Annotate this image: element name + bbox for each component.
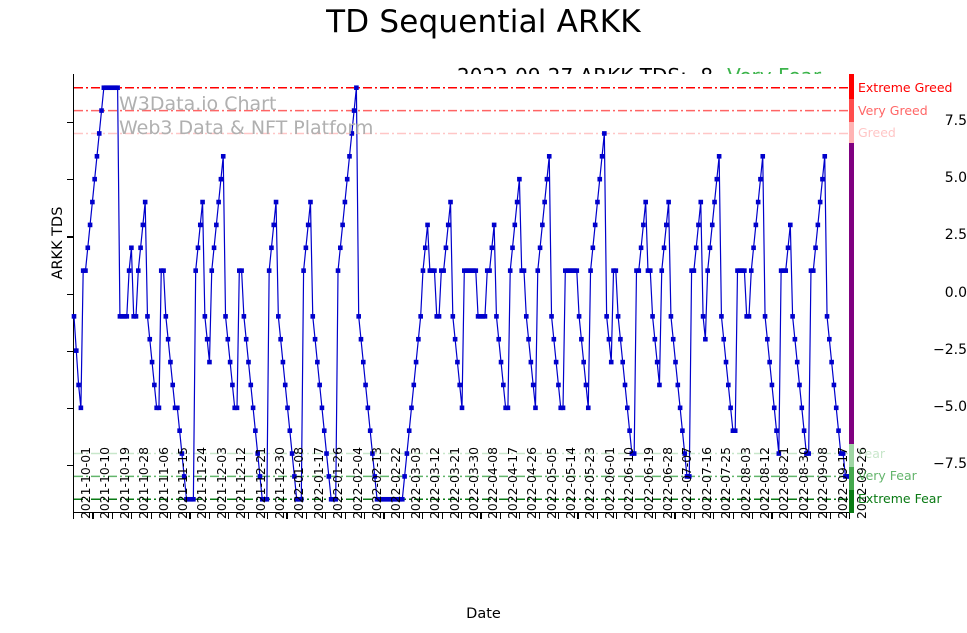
data-point-marker xyxy=(653,337,658,342)
x-axis-tick-label: 2021-12-03 xyxy=(214,447,229,519)
data-point-marker xyxy=(322,428,327,433)
data-point-marker xyxy=(320,406,325,411)
x-axis-tick-mark xyxy=(713,513,714,519)
x-axis-tick-mark xyxy=(752,513,753,519)
data-point-marker xyxy=(643,200,648,205)
data-point-marker xyxy=(832,383,837,388)
data-point-marker xyxy=(694,245,699,250)
data-point-marker xyxy=(540,223,545,228)
y-axis-tick-label: −5.0 xyxy=(911,399,967,415)
data-point-marker xyxy=(754,223,759,228)
data-point-marker xyxy=(460,406,465,411)
data-point-marker xyxy=(586,406,591,411)
data-point-marker xyxy=(623,383,628,388)
x-axis-tick-label: 2022-01-26 xyxy=(330,447,345,519)
data-point-marker xyxy=(205,337,210,342)
data-point-marker xyxy=(531,383,536,388)
sentiment-bar-extreme-fear xyxy=(849,490,854,513)
x-axis-tick-mark xyxy=(267,513,268,519)
x-axis-tick-mark xyxy=(733,513,734,519)
data-point-marker xyxy=(285,406,290,411)
data-point-marker xyxy=(244,337,249,342)
data-point-marker xyxy=(836,428,841,433)
data-point-marker xyxy=(721,337,726,342)
data-point-marker xyxy=(274,200,279,205)
data-point-marker xyxy=(200,200,205,205)
data-point-marker xyxy=(584,383,589,388)
x-axis-tick-label: 2022-02-13 xyxy=(369,447,384,519)
data-point-marker xyxy=(508,268,513,273)
x-axis-tick-label: 2022-07-16 xyxy=(699,447,714,519)
x-axis-tick-label: 2022-02-22 xyxy=(388,447,403,519)
data-point-marker xyxy=(733,428,738,433)
data-point-marker xyxy=(561,406,566,411)
data-point-marker xyxy=(797,383,802,388)
data-point-marker xyxy=(79,406,84,411)
data-point-marker xyxy=(361,360,366,365)
data-point-marker xyxy=(513,223,518,228)
data-point-marker xyxy=(115,85,120,90)
y-axis-tick-label: −7.5 xyxy=(911,456,967,472)
data-series-layer xyxy=(74,74,850,513)
data-point-marker xyxy=(423,245,428,250)
data-point-marker xyxy=(125,314,130,319)
data-point-marker xyxy=(783,268,788,273)
y-axis-tick-label: 2.5 xyxy=(911,227,967,243)
x-axis-tick-mark xyxy=(92,513,93,519)
data-point-marker xyxy=(533,406,538,411)
data-point-marker xyxy=(473,268,478,273)
data-point-marker xyxy=(529,360,534,365)
data-point-marker xyxy=(554,360,559,365)
y-axis-label: ARKK TDS xyxy=(50,183,66,303)
x-axis-tick-mark xyxy=(597,513,598,519)
data-point-marker xyxy=(407,428,412,433)
data-point-marker xyxy=(600,154,605,159)
x-axis-tick-mark xyxy=(849,513,850,519)
x-axis-tick-mark xyxy=(248,513,249,519)
data-point-marker xyxy=(767,360,772,365)
data-point-marker xyxy=(354,85,359,90)
data-point-marker xyxy=(74,348,79,353)
x-axis-tick-mark xyxy=(131,513,132,519)
data-point-marker xyxy=(793,337,798,342)
data-point-marker xyxy=(223,314,228,319)
data-point-marker xyxy=(604,314,609,319)
x-axis-tick-label: 2021-10-28 xyxy=(136,447,151,519)
x-axis-tick-label: 2022-04-08 xyxy=(485,447,500,519)
data-point-marker xyxy=(728,406,733,411)
data-point-marker xyxy=(97,131,102,136)
data-point-marker xyxy=(524,314,529,319)
data-point-marker xyxy=(85,245,90,250)
sentiment-bar-neutral xyxy=(849,143,854,445)
data-point-marker xyxy=(175,406,180,411)
y-axis-tick-mark xyxy=(67,236,73,237)
x-axis-tick-mark xyxy=(810,513,811,519)
x-axis-tick-mark xyxy=(674,513,675,519)
x-axis-tick-label: 2021-11-15 xyxy=(175,447,190,519)
data-point-marker xyxy=(239,268,244,273)
data-point-marker xyxy=(542,200,547,205)
data-point-marker xyxy=(825,314,830,319)
data-point-marker xyxy=(680,428,685,433)
x-axis-tick-label: 2022-08-12 xyxy=(757,447,772,519)
data-point-marker xyxy=(581,360,586,365)
series-line xyxy=(74,88,850,500)
data-point-marker xyxy=(356,314,361,319)
data-point-marker xyxy=(795,360,800,365)
data-point-marker xyxy=(483,314,488,319)
x-axis-tick-mark xyxy=(228,513,229,519)
x-axis-tick-mark xyxy=(325,513,326,519)
data-point-marker xyxy=(157,406,162,411)
data-point-marker xyxy=(411,383,416,388)
data-point-marker xyxy=(164,314,169,319)
data-point-marker xyxy=(418,314,423,319)
data-point-marker xyxy=(742,268,747,273)
y-axis-tick-mark xyxy=(67,122,73,123)
data-point-marker xyxy=(673,360,678,365)
data-point-marker xyxy=(579,337,584,342)
data-point-marker xyxy=(145,314,150,319)
chart-page: TD Sequential ARKK ARKK TDS Date 2022-09… xyxy=(0,0,967,633)
data-point-marker xyxy=(228,360,233,365)
band-label-greed: Greed xyxy=(858,125,896,140)
x-axis-tick-label: 2022-05-05 xyxy=(544,447,559,519)
data-point-marker xyxy=(313,337,318,342)
data-point-marker xyxy=(138,245,143,250)
data-point-marker xyxy=(588,268,593,273)
data-point-marker xyxy=(597,177,602,182)
data-point-marker xyxy=(692,268,697,273)
data-point-marker xyxy=(278,337,283,342)
x-axis-tick-label: 2022-01-08 xyxy=(291,447,306,519)
data-point-marker xyxy=(822,154,827,159)
data-point-marker xyxy=(317,383,322,388)
data-point-marker xyxy=(350,131,355,136)
data-point-marker xyxy=(72,314,77,319)
data-point-marker xyxy=(306,223,311,228)
data-point-marker xyxy=(453,337,458,342)
data-point-marker xyxy=(501,383,506,388)
y-axis-tick-label: 0.0 xyxy=(911,285,967,301)
x-axis-tick-mark xyxy=(519,513,520,519)
data-point-marker xyxy=(455,360,460,365)
data-point-marker xyxy=(522,268,527,273)
data-point-marker xyxy=(639,245,644,250)
data-point-marker xyxy=(90,200,95,205)
data-point-marker xyxy=(347,154,352,159)
band-label-very-fear: Very Fear xyxy=(858,468,917,483)
x-axis-tick-mark xyxy=(151,513,152,519)
data-point-marker xyxy=(545,177,550,182)
data-point-marker xyxy=(147,337,152,342)
data-point-marker xyxy=(276,314,281,319)
x-axis-tick-label: 2022-04-26 xyxy=(524,447,539,519)
data-point-marker xyxy=(552,337,557,342)
data-point-marker xyxy=(253,428,258,433)
data-point-marker xyxy=(345,177,350,182)
x-axis-tick-mark xyxy=(500,513,501,519)
data-point-marker xyxy=(281,360,286,365)
data-point-marker xyxy=(669,314,674,319)
y-axis-tick-mark xyxy=(67,465,73,466)
data-point-marker xyxy=(701,314,706,319)
data-point-marker xyxy=(595,200,600,205)
data-point-marker xyxy=(366,406,371,411)
data-point-marker xyxy=(813,245,818,250)
data-point-marker xyxy=(409,406,414,411)
data-point-marker xyxy=(506,406,511,411)
x-axis-tick-label: 2021-11-24 xyxy=(194,447,209,519)
x-axis-tick-mark xyxy=(364,513,365,519)
data-point-marker xyxy=(127,268,132,273)
band-label-extreme-fear: Extreme Fear xyxy=(858,491,942,506)
sentiment-bar-extreme-greed xyxy=(849,74,854,99)
data-point-marker xyxy=(242,314,247,319)
data-point-marker xyxy=(150,360,155,365)
data-point-marker xyxy=(763,314,768,319)
x-axis-tick-mark xyxy=(170,513,171,519)
data-point-marker xyxy=(437,314,442,319)
x-axis-tick-label: 2022-06-28 xyxy=(660,447,675,519)
data-point-marker xyxy=(751,245,756,250)
data-point-marker xyxy=(786,245,791,250)
data-point-marker xyxy=(446,223,451,228)
data-point-marker xyxy=(451,314,456,319)
data-point-marker xyxy=(547,154,552,159)
data-point-marker xyxy=(705,268,710,273)
band-label-fear: Fear xyxy=(858,446,885,461)
data-point-marker xyxy=(717,154,722,159)
data-point-marker xyxy=(441,268,446,273)
data-point-marker xyxy=(535,268,540,273)
data-point-marker xyxy=(678,406,683,411)
data-point-marker xyxy=(655,360,660,365)
data-point-marker xyxy=(343,200,348,205)
data-point-marker xyxy=(88,223,93,228)
data-point-marker xyxy=(338,245,343,250)
x-axis-tick-mark xyxy=(771,513,772,519)
data-point-marker xyxy=(226,337,231,342)
x-axis-tick-mark xyxy=(189,513,190,519)
data-point-marker xyxy=(152,383,157,388)
x-axis-tick-label: 2021-12-21 xyxy=(253,447,268,519)
x-axis-tick-label: 2021-11-06 xyxy=(156,447,171,519)
data-point-marker xyxy=(758,177,763,182)
data-point-marker xyxy=(747,314,752,319)
data-point-marker xyxy=(76,383,81,388)
x-axis-tick-label: 2022-07-07 xyxy=(679,447,694,519)
data-point-marker xyxy=(209,268,214,273)
x-axis-tick-mark xyxy=(616,513,617,519)
data-point-marker xyxy=(574,268,579,273)
data-point-marker xyxy=(834,406,839,411)
data-point-marker xyxy=(607,337,612,342)
data-point-marker xyxy=(659,268,664,273)
data-point-marker xyxy=(457,383,462,388)
data-point-marker xyxy=(336,268,341,273)
data-point-marker xyxy=(593,223,598,228)
x-axis-tick-label: 2022-09-17 xyxy=(835,447,850,519)
data-point-marker xyxy=(304,245,309,250)
data-point-marker xyxy=(802,428,807,433)
data-point-marker xyxy=(616,314,621,319)
page-title: TD Sequential ARKK xyxy=(0,4,967,40)
data-point-marker xyxy=(214,223,219,228)
data-point-marker xyxy=(648,268,653,273)
data-point-marker xyxy=(269,245,274,250)
data-point-marker xyxy=(340,223,345,228)
data-point-marker xyxy=(499,360,504,365)
data-point-marker xyxy=(799,406,804,411)
data-point-marker xyxy=(820,177,825,182)
x-axis-tick-label: 2022-07-25 xyxy=(718,447,733,519)
x-axis-tick-label: 2021-10-10 xyxy=(97,447,112,519)
x-axis-tick-label: 2022-08-21 xyxy=(776,447,791,519)
x-axis-tick-mark xyxy=(539,513,540,519)
data-point-marker xyxy=(515,200,520,205)
x-axis-tick-mark xyxy=(403,513,404,519)
data-point-marker xyxy=(416,337,421,342)
x-axis-tick-label: 2022-01-17 xyxy=(311,447,326,519)
data-point-marker xyxy=(248,383,253,388)
data-point-marker xyxy=(538,245,543,250)
x-axis-tick-mark xyxy=(306,513,307,519)
x-axis-tick-mark xyxy=(830,513,831,519)
x-axis-tick-label: 2021-12-30 xyxy=(272,447,287,519)
data-point-marker xyxy=(166,337,171,342)
data-point-marker xyxy=(577,314,582,319)
data-point-marker xyxy=(676,383,681,388)
data-point-marker xyxy=(618,337,623,342)
x-axis-tick-mark xyxy=(636,513,637,519)
y-axis-tick-label: −2.5 xyxy=(911,342,967,358)
data-point-marker xyxy=(636,268,641,273)
data-point-marker xyxy=(235,406,240,411)
x-axis-tick-label: 2022-06-10 xyxy=(621,447,636,519)
x-axis-tick-label: 2022-03-12 xyxy=(427,447,442,519)
data-point-marker xyxy=(664,223,669,228)
sentiment-bar-very-fear xyxy=(849,467,854,490)
x-axis-tick-label: 2022-03-21 xyxy=(447,447,462,519)
sentiment-bar-very-greed xyxy=(849,99,854,122)
x-axis-tick-mark xyxy=(577,513,578,519)
data-point-marker xyxy=(517,177,522,182)
data-point-marker xyxy=(712,200,717,205)
data-point-marker xyxy=(99,108,104,113)
x-axis-tick-label: 2022-02-04 xyxy=(350,447,365,519)
data-point-marker xyxy=(641,223,646,228)
data-point-marker xyxy=(288,428,293,433)
data-point-marker xyxy=(196,245,201,250)
x-axis-label: Date xyxy=(0,606,967,622)
data-point-marker xyxy=(724,360,729,365)
data-point-marker xyxy=(168,360,173,365)
data-point-marker xyxy=(308,200,313,205)
data-point-marker xyxy=(134,314,139,319)
data-point-marker xyxy=(315,360,320,365)
data-point-marker xyxy=(487,268,492,273)
x-axis-tick-label: 2022-06-01 xyxy=(602,447,617,519)
data-point-marker xyxy=(310,314,315,319)
band-label-very-greed: Very Greed xyxy=(858,103,928,118)
data-point-marker xyxy=(774,428,779,433)
x-axis-tick-mark xyxy=(694,513,695,519)
data-point-marker xyxy=(193,268,198,273)
x-axis-tick-label: 2022-03-03 xyxy=(408,447,423,519)
data-point-marker xyxy=(414,360,419,365)
x-axis-tick-mark xyxy=(442,513,443,519)
data-point-marker xyxy=(92,177,97,182)
x-axis-tick-mark xyxy=(655,513,656,519)
data-point-marker xyxy=(425,223,430,228)
data-point-marker xyxy=(267,268,272,273)
y-axis-tick-mark xyxy=(67,179,73,180)
data-point-marker xyxy=(141,223,146,228)
data-point-marker xyxy=(368,428,373,433)
data-point-marker xyxy=(703,337,708,342)
data-point-marker xyxy=(609,360,614,365)
x-axis-tick-mark xyxy=(461,513,462,519)
data-point-marker xyxy=(83,268,88,273)
data-point-marker xyxy=(627,428,632,433)
x-axis-tick-mark xyxy=(112,513,113,519)
data-point-marker xyxy=(657,383,662,388)
sentiment-bar-fear xyxy=(849,444,854,467)
data-point-marker xyxy=(230,383,235,388)
data-point-marker xyxy=(625,406,630,411)
data-point-marker xyxy=(216,200,221,205)
x-axis-tick-label: 2022-05-14 xyxy=(563,447,578,519)
data-point-marker xyxy=(549,314,554,319)
data-point-marker xyxy=(770,383,775,388)
data-point-marker xyxy=(352,108,357,113)
x-axis-tick-mark xyxy=(480,513,481,519)
data-point-marker xyxy=(556,383,561,388)
x-axis-tick-label: 2021-12-12 xyxy=(233,447,248,519)
x-axis-tick-label: 2022-05-23 xyxy=(582,447,597,519)
data-point-marker xyxy=(666,200,671,205)
x-axis-tick-label: 2021-10-19 xyxy=(117,447,132,519)
data-point-marker xyxy=(161,268,166,273)
data-point-marker xyxy=(710,223,715,228)
data-point-marker xyxy=(207,360,212,365)
data-point-marker xyxy=(591,245,596,250)
y-axis-tick-mark xyxy=(67,408,73,409)
x-axis-tick-label: 2022-09-08 xyxy=(815,447,830,519)
band-label-extreme-greed: Extreme Greed xyxy=(858,80,952,95)
data-point-marker xyxy=(811,268,816,273)
data-point-marker xyxy=(496,337,501,342)
data-point-marker xyxy=(421,268,426,273)
x-axis-tick-mark xyxy=(286,513,287,519)
data-point-marker xyxy=(444,245,449,250)
data-point-marker xyxy=(363,383,368,388)
data-point-marker xyxy=(650,314,655,319)
data-point-marker xyxy=(620,360,625,365)
data-point-marker xyxy=(756,200,761,205)
data-point-marker xyxy=(765,337,770,342)
data-point-marker xyxy=(526,337,531,342)
data-point-marker xyxy=(246,360,251,365)
data-point-marker xyxy=(829,360,834,365)
data-point-marker xyxy=(602,131,607,136)
x-axis-tick-mark xyxy=(791,513,792,519)
data-point-marker xyxy=(698,200,703,205)
data-point-marker xyxy=(818,200,823,205)
